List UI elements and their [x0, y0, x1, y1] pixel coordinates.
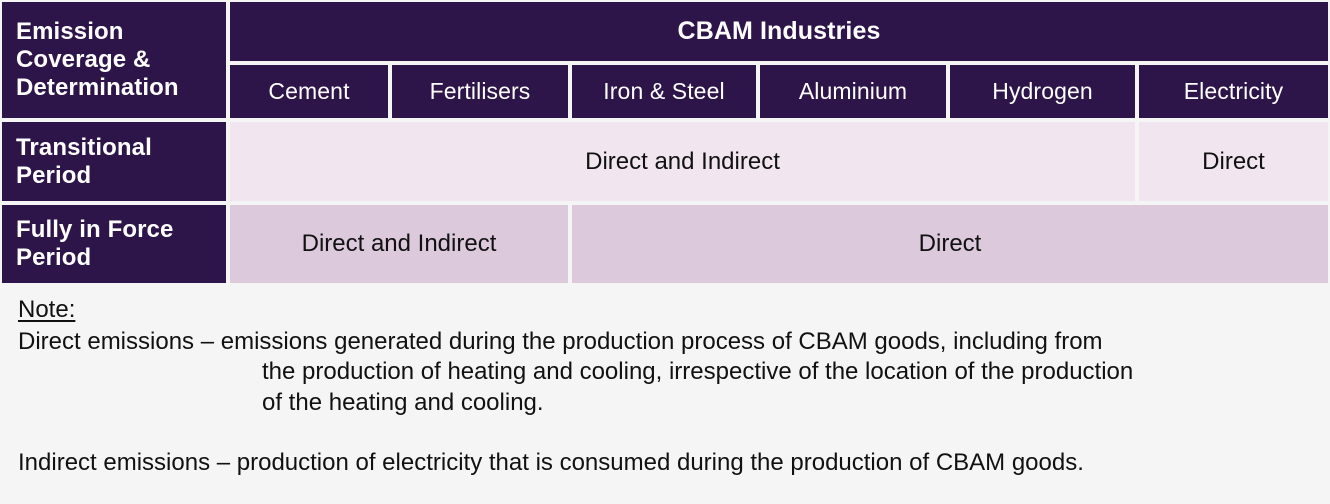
cell-fully-in-force-direct-text: Direct	[919, 230, 982, 258]
row-header-transitional-period-label: TransitionalPeriod	[16, 134, 152, 190]
note-title: Note:	[18, 295, 1312, 325]
row-header-fully-in-force-period: Fully in ForcePeriod	[0, 203, 228, 285]
note-direct-line-3: of the heating and cooling.	[18, 388, 1312, 418]
row-header-fully-in-force-period-label: Fully in ForcePeriod	[16, 216, 173, 272]
cell-transitional-direct: Direct	[1137, 120, 1330, 203]
note-direct-line-2: the production of heating and cooling, i…	[18, 357, 1312, 387]
cell-fully-in-force-direct-and-indirect-text: Direct and Indirect	[302, 230, 497, 258]
column-header-cement: Cement	[228, 63, 390, 120]
column-header-hydrogen-label: Hydrogen	[992, 78, 1093, 105]
group-header-cbam-industries: CBAM Industries	[228, 0, 1330, 63]
column-header-electricity: Electricity	[1137, 63, 1330, 120]
note-spacer	[18, 418, 1312, 448]
column-header-iron-steel-label: Iron & Steel	[603, 78, 724, 105]
note-indirect-line: Indirect emissions – production of elect…	[18, 448, 1312, 478]
column-header-aluminium: Aluminium	[758, 63, 948, 120]
row-header-title-cell: EmissionCoverage &Determination	[0, 0, 228, 120]
row-header-title-text: EmissionCoverage &Determination	[16, 18, 179, 101]
cell-fully-in-force-direct-and-indirect: Direct and Indirect	[228, 203, 570, 285]
cbam-emission-coverage-table: EmissionCoverage &Determination CBAM Ind…	[0, 0, 1330, 504]
cell-transitional-direct-and-indirect-text: Direct and Indirect	[585, 148, 780, 176]
cell-transitional-direct-text: Direct	[1202, 148, 1265, 176]
row-header-transitional-period: TransitionalPeriod	[0, 120, 228, 203]
note-block: Note: Direct emissions – emissions gener…	[0, 285, 1330, 504]
column-header-cement-label: Cement	[268, 78, 349, 105]
column-header-aluminium-label: Aluminium	[799, 78, 907, 105]
group-header-label: CBAM Industries	[678, 17, 881, 46]
column-header-electricity-label: Electricity	[1184, 78, 1284, 105]
note-direct-line-1: Direct emissions – emissions generated d…	[18, 327, 1312, 357]
cell-transitional-direct-and-indirect: Direct and Indirect	[228, 120, 1137, 203]
column-header-fertilisers-label: Fertilisers	[430, 78, 531, 105]
cell-fully-in-force-direct: Direct	[570, 203, 1330, 285]
column-header-iron-steel: Iron & Steel	[570, 63, 758, 120]
column-header-hydrogen: Hydrogen	[948, 63, 1137, 120]
column-header-fertilisers: Fertilisers	[390, 63, 570, 120]
